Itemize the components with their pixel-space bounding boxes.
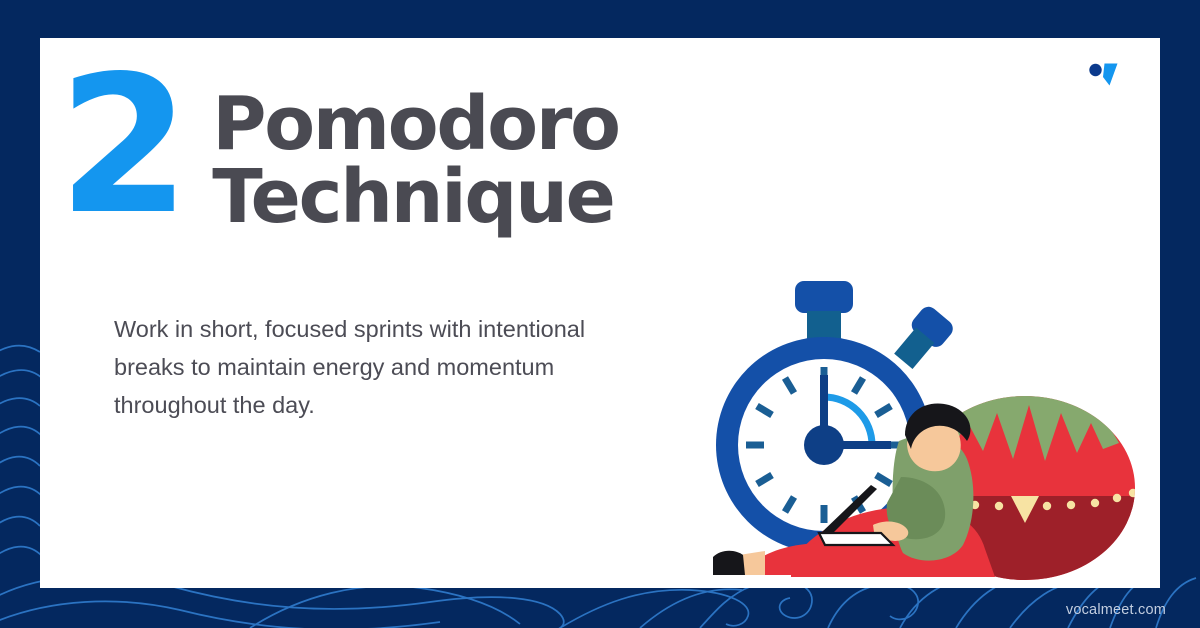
step-number: 2: [58, 66, 184, 226]
body-copy: Work in short, focused sprints with inte…: [114, 310, 654, 424]
headline-block: 2 Pomodoro Technique: [58, 66, 619, 233]
body-line-1: Work in short, focused sprints with inte…: [114, 310, 654, 348]
body-line-3: throughout the day.: [114, 386, 654, 424]
vocalmeet-v-logo: [1086, 60, 1126, 94]
headline-line-1: Pomodoro: [212, 88, 619, 161]
slide-canvas: 2 Pomodoro Technique Work in short, focu…: [0, 0, 1200, 628]
page-title: Pomodoro Technique: [212, 66, 619, 233]
pomodoro-illustration: [695, 263, 1175, 593]
headline-line-2: Technique: [212, 161, 619, 234]
content-card: 2 Pomodoro Technique Work in short, focu…: [40, 38, 1160, 588]
footer-url[interactable]: vocalmeet.com: [1066, 602, 1166, 618]
body-line-2: breaks to maintain energy and momentum: [114, 348, 654, 386]
